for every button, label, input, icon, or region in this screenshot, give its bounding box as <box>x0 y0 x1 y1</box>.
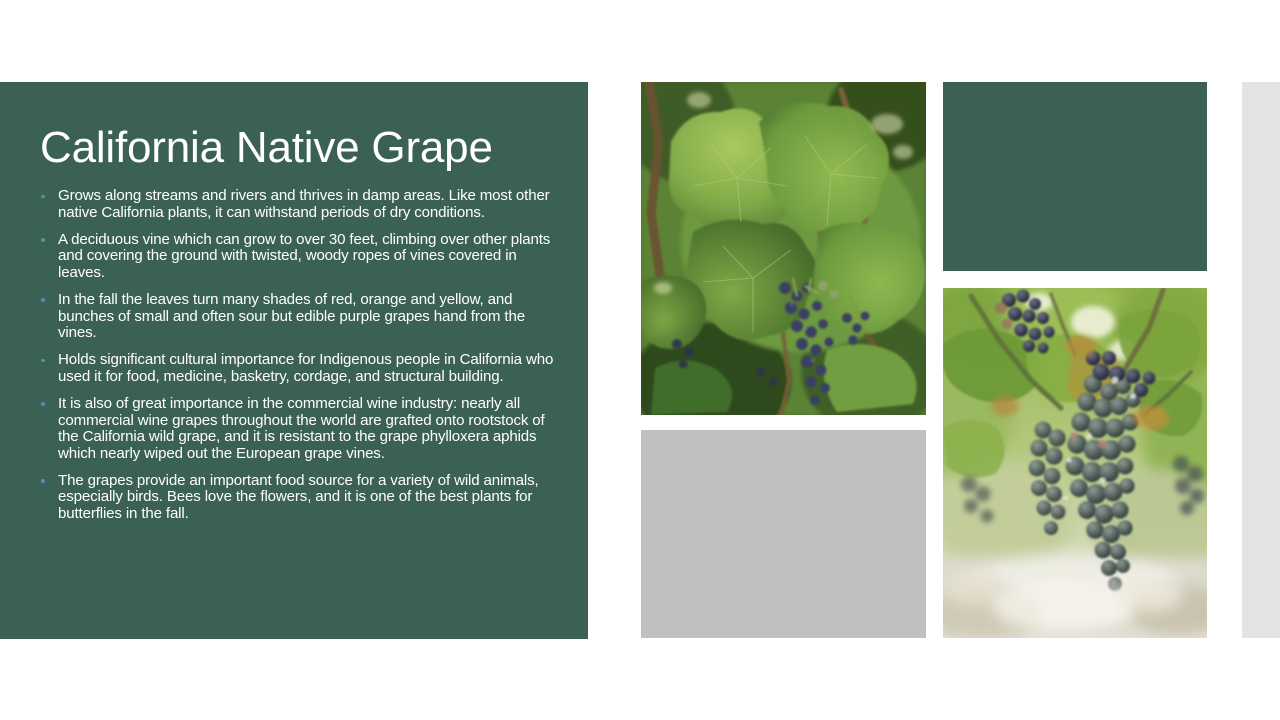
bullet-dot-icon <box>41 195 45 199</box>
list-item-text: Grows along streams and rivers and thriv… <box>58 188 556 221</box>
list-item-text: A deciduous vine which can grow to over … <box>58 232 556 282</box>
list-item-text: In the fall the leaves turn many shades … <box>58 292 556 342</box>
list-item: A deciduous vine which can grow to over … <box>36 232 556 282</box>
bullet-dot-icon <box>41 479 45 483</box>
gray-placeholder-block <box>641 430 926 638</box>
list-item-text: It is also of great importance in the co… <box>58 396 556 462</box>
bullet-dot-icon <box>41 402 45 406</box>
list-item-text: Holds significant cultural importance fo… <box>58 352 556 385</box>
page-title: California Native Grape <box>40 122 560 174</box>
hanging-grape-cluster-photo <box>943 288 1207 638</box>
grape-vine-leaves-photo <box>641 82 926 415</box>
hanging-grape-cluster-illustration <box>943 288 1207 638</box>
slide-canvas: California Native Grape Grows along stre… <box>0 0 1280 720</box>
right-edge-strip <box>1242 82 1280 638</box>
list-item: It is also of great importance in the co… <box>36 396 556 462</box>
bullet-dot-icon <box>41 359 45 363</box>
list-item: Grows along streams and rivers and thriv… <box>36 188 556 221</box>
list-item: Holds significant cultural importance fo… <box>36 352 556 385</box>
bullet-dot-icon <box>41 238 45 242</box>
list-item-text: The grapes provide an important food sou… <box>58 473 556 523</box>
grape-vine-leaves-illustration <box>641 82 926 415</box>
list-item: In the fall the leaves turn many shades … <box>36 292 556 342</box>
list-item: The grapes provide an important food sou… <box>36 473 556 523</box>
bullet-dot-icon <box>41 298 45 302</box>
green-placeholder-block <box>943 82 1207 271</box>
bullet-list: Grows along streams and rivers and thriv… <box>36 188 556 533</box>
